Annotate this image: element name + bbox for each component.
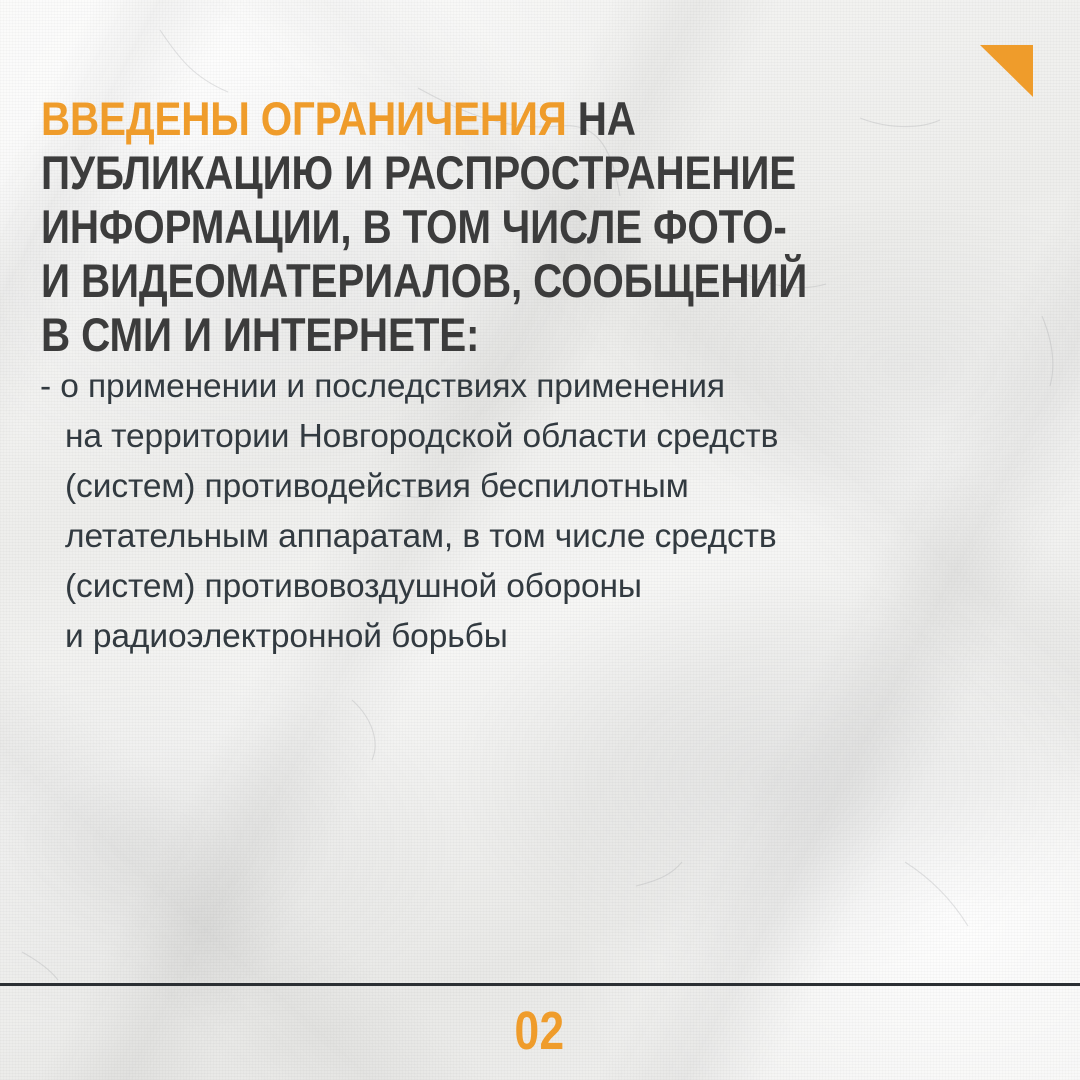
page-number-text: 02 <box>515 1004 565 1058</box>
headline-accent-text: ВВЕДЕНЫ ОГРАНИЧЕНИЯ <box>41 92 567 145</box>
list-item-line: - о применении и последствиях применения <box>40 362 940 412</box>
slide-canvas: ВВЕДЕНЫ ОГРАНИЧЕНИЯ НА ПУБЛИКАЦИЮ И РАСП… <box>0 0 1080 1080</box>
list-item-line: (систем) противовоздушной обороны <box>40 562 940 612</box>
orange-corner-triangle <box>980 45 1033 97</box>
list-item-line: на территории Новгородской области средс… <box>40 412 940 462</box>
list-item-line: летательным аппаратам, в том числе средс… <box>40 512 940 562</box>
footer-divider <box>0 983 1080 986</box>
list-item-line: (систем) противодействия беспилотным <box>40 462 940 512</box>
list-item-line: и радиоэлектронной борьбы <box>40 612 940 662</box>
page-title: ВВЕДЕНЫ ОГРАНИЧЕНИЯ НА ПУБЛИКАЦИЮ И РАСП… <box>41 92 815 362</box>
page-number: 02 <box>0 1004 1080 1058</box>
restriction-list: - о применении и последствиях применения… <box>40 362 940 662</box>
